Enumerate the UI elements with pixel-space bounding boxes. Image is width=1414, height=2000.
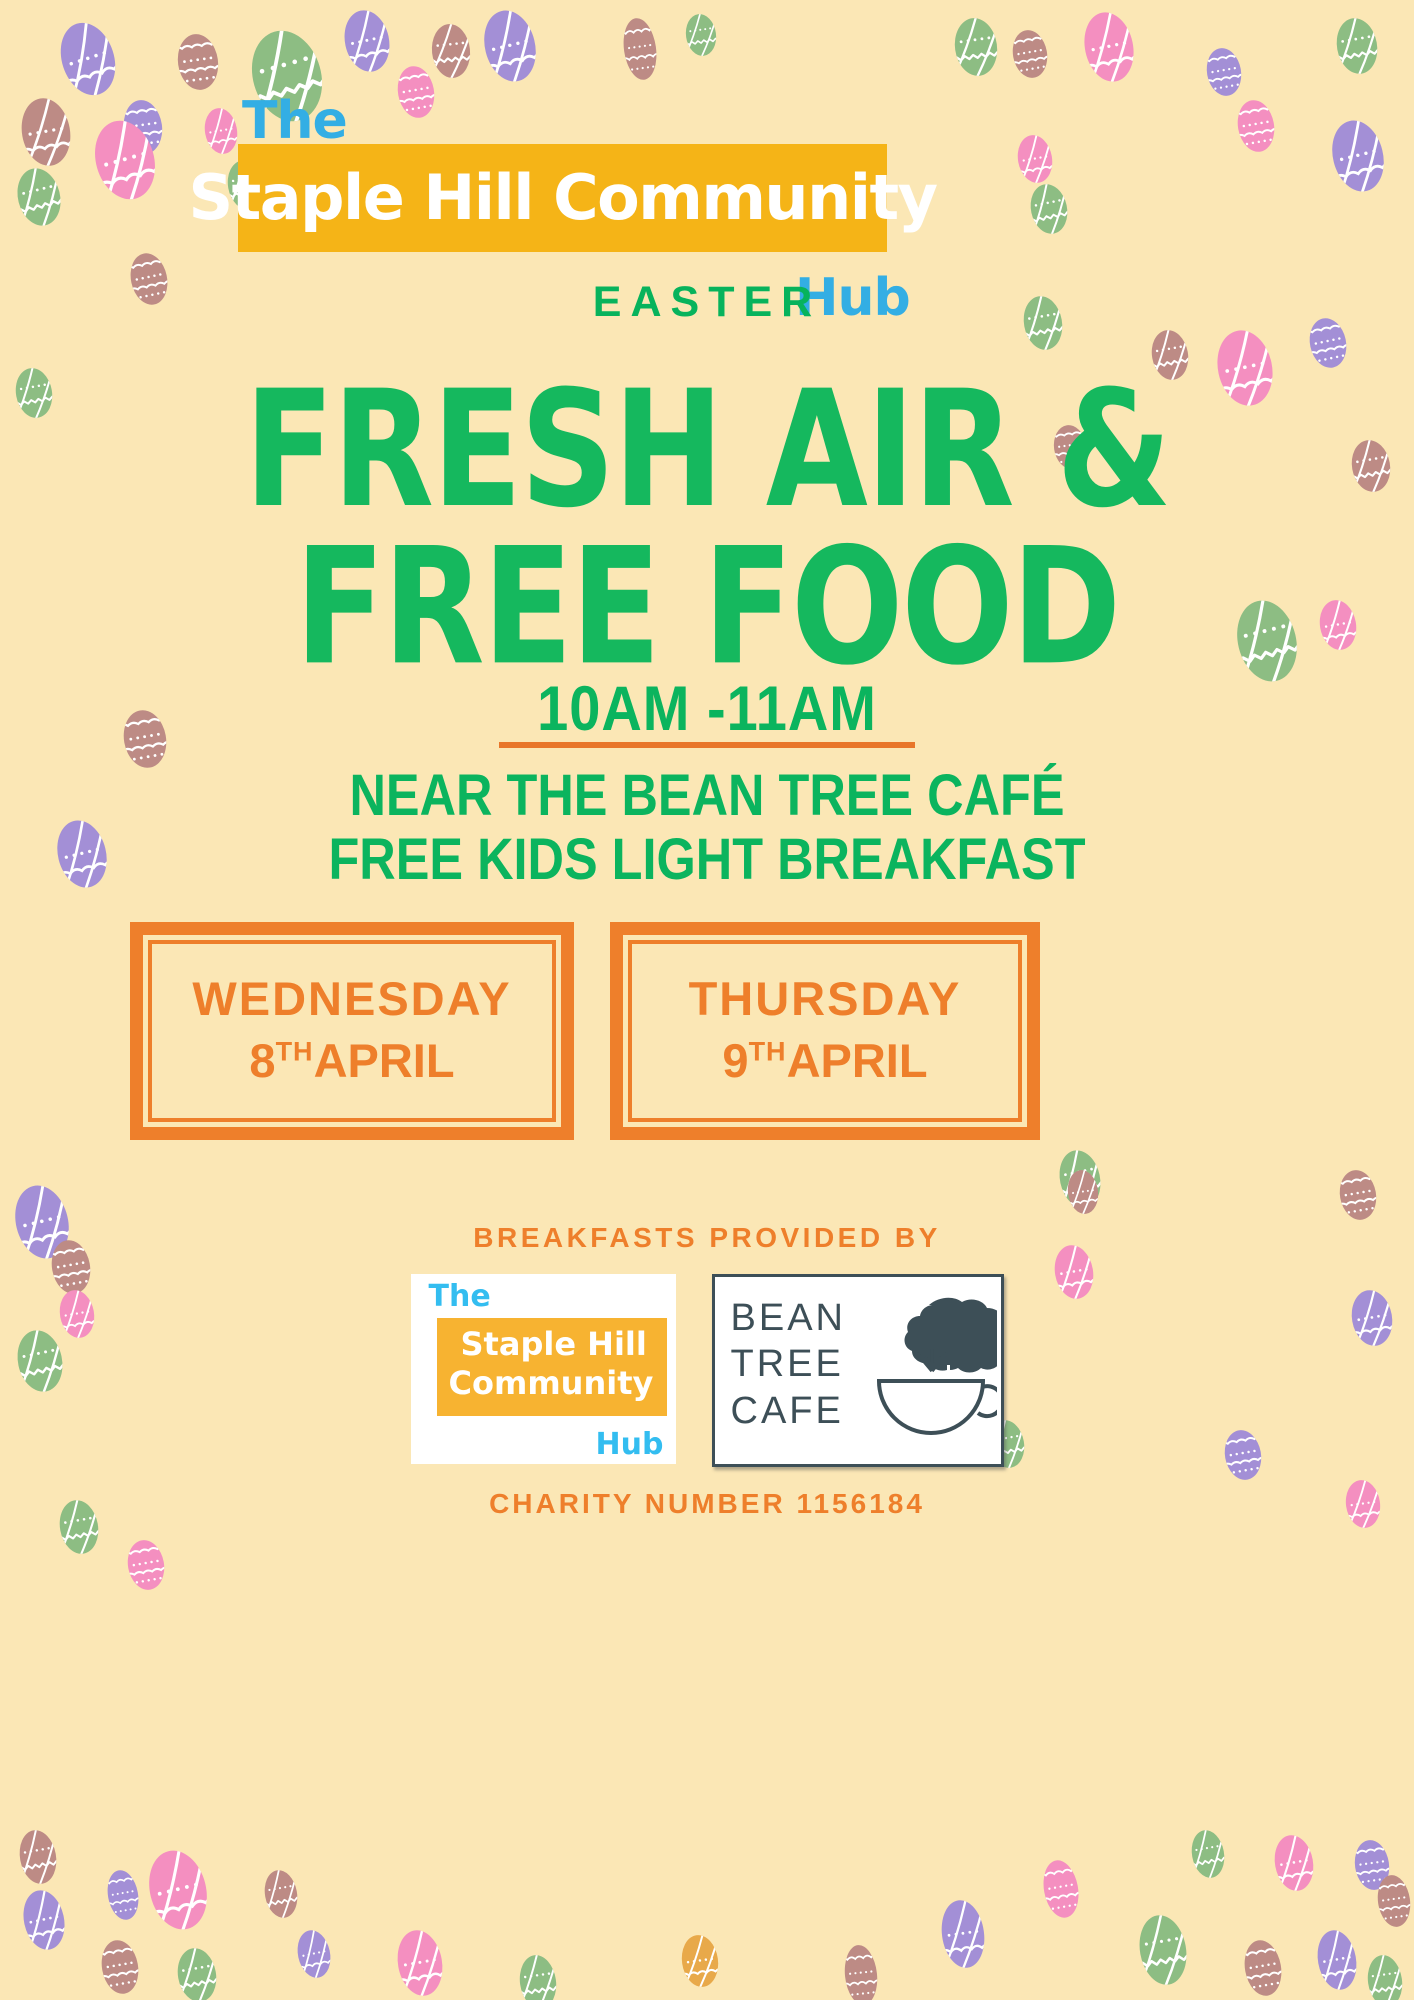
- sponsor-logos: The Staple Hill Community Hub BEAN TREE …: [0, 1274, 1414, 1467]
- logo-hub-text: Hub: [596, 1430, 664, 1460]
- date-month: APRIL: [314, 1034, 455, 1087]
- provided-by-label: BREAKFASTS PROVIDED BY: [0, 1222, 1414, 1254]
- tree-in-cup-icon: [867, 1291, 997, 1451]
- charity-number: CHARITY NUMBER 1156184: [0, 1488, 1414, 1520]
- page-title: FRESH AIR & FREE FOOD: [0, 372, 1414, 688]
- event-time: 10AM -11AM: [0, 672, 1414, 745]
- easter-poster: The Staple Hill Community Hub EASTER FRE…: [0, 0, 1414, 2000]
- logo-the-text: The: [429, 1282, 491, 1312]
- headline-line-2: FREE FOOD: [0, 530, 1414, 688]
- date-card-wednesday: WEDNESDAY 8THAPRIL: [130, 922, 574, 1140]
- logo-yellow-band: Staple Hill Community: [437, 1318, 667, 1416]
- date-number: 9: [722, 1034, 748, 1087]
- date-month: APRIL: [787, 1034, 928, 1087]
- logo-line-1: Staple Hill: [461, 1328, 647, 1360]
- btc-line-2: TREE: [731, 1341, 846, 1387]
- date-card-day: THURSDAY: [689, 974, 962, 1023]
- date-number: 8: [249, 1034, 275, 1087]
- header-the-text: The: [242, 95, 347, 147]
- staple-hill-community-hub-logo: The Staple Hill Community Hub: [411, 1274, 676, 1464]
- time-underline-rule: [499, 742, 915, 748]
- date-card-date: 9THAPRIL: [722, 1034, 927, 1088]
- date-card-date: 8THAPRIL: [249, 1034, 454, 1088]
- btc-line-1: BEAN: [731, 1295, 846, 1341]
- date-card-day: WEDNESDAY: [192, 974, 511, 1023]
- occasion-label: EASTER: [0, 278, 1414, 327]
- header-org-band: Staple Hill Community: [238, 144, 887, 252]
- date-ordinal: TH: [276, 1036, 314, 1066]
- btc-line-3: CAFE: [731, 1388, 846, 1434]
- bean-tree-cafe-logo: BEAN TREE CAFE: [712, 1274, 1004, 1467]
- header-org-name: Staple Hill Community: [189, 167, 937, 229]
- event-offer: FREE KIDS LIGHT BREAKFAST: [0, 826, 1414, 893]
- bean-tree-cafe-wordmark: BEAN TREE CAFE: [731, 1295, 846, 1434]
- date-ordinal: TH: [749, 1036, 787, 1066]
- event-location: NEAR THE BEAN TREE CAFÉ: [0, 762, 1414, 829]
- logo-line-2: Community: [449, 1367, 654, 1399]
- date-card-thursday: THURSDAY 9THAPRIL: [610, 922, 1040, 1140]
